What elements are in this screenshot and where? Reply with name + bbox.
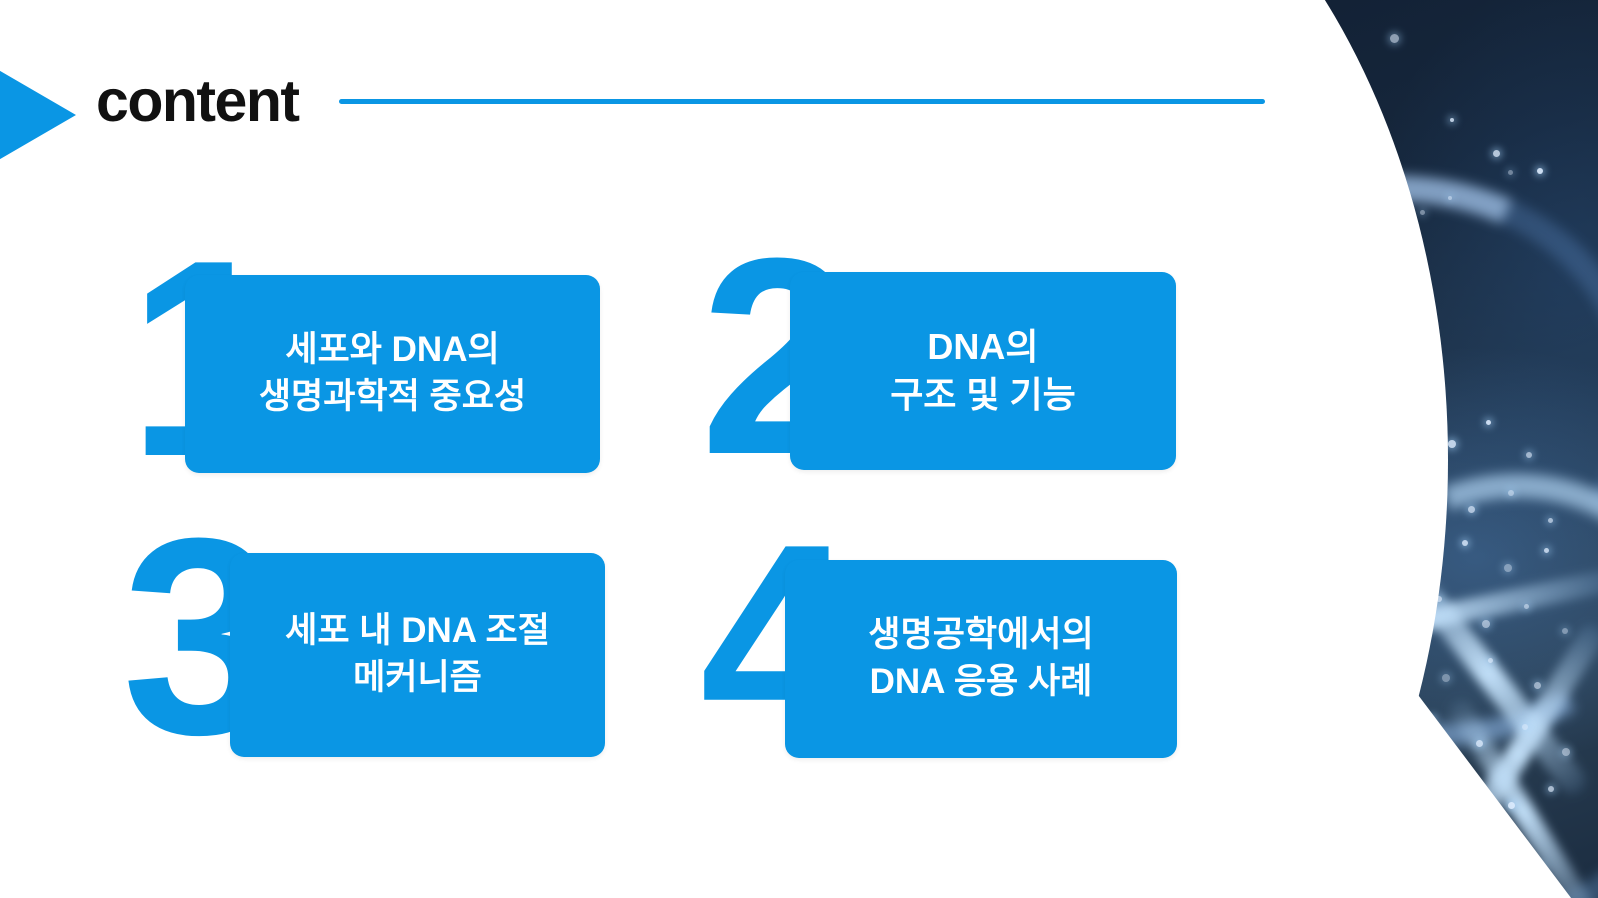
item-card-4[interactable]: 생명공학에서의 DNA 응용 사례: [785, 560, 1177, 758]
item-label-4: 생명공학에서의 DNA 응용 사례: [854, 612, 1107, 706]
item-card-2[interactable]: DNA의 구조 및 기능: [790, 272, 1176, 470]
item-card-3[interactable]: 세포 내 DNA 조절 메커니즘: [230, 553, 605, 757]
item-label-2: DNA의 구조 및 기능: [876, 323, 1090, 419]
content-card-grid: 1 세포와 DNA의 생명과학적 중요성 2 DNA의 구조 및 기능 3 세포…: [0, 0, 1598, 898]
item-label-3: 세포 내 DNA 조절 메커니즘: [271, 608, 564, 702]
item-card-1[interactable]: 세포와 DNA의 생명과학적 중요성: [185, 275, 600, 473]
slide-canvas: content 1 세포와 DNA의 생명과학적 중요성 2 DNA의 구조 및…: [0, 0, 1598, 898]
item-label-1: 세포와 DNA의 생명과학적 중요성: [245, 327, 540, 421]
